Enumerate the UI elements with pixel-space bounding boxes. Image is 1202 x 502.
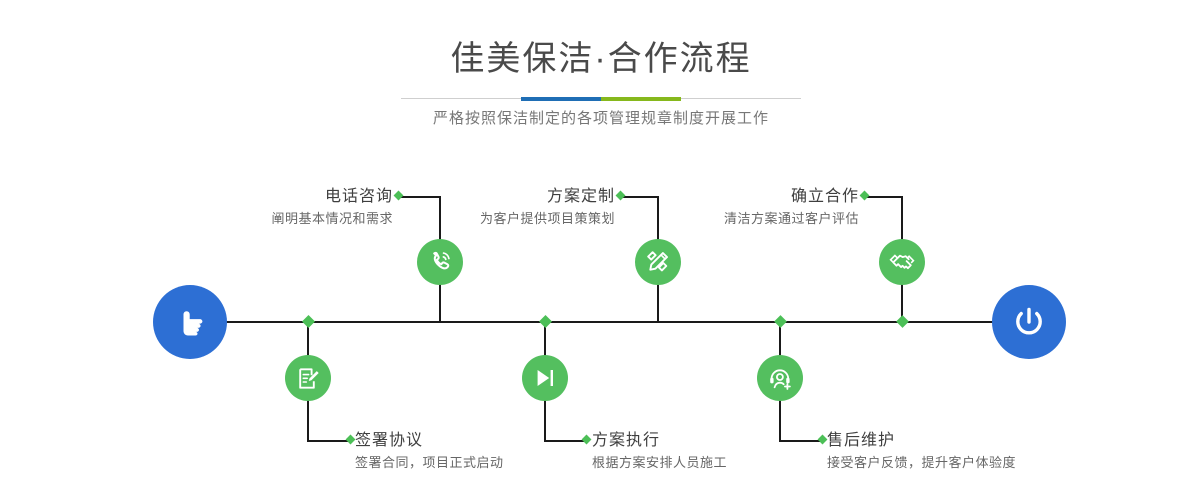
step-title-2: 签署协议	[355, 430, 615, 452]
handshake-icon	[888, 248, 916, 276]
step-icon-4	[522, 355, 568, 401]
timeline-start-node	[153, 285, 227, 359]
label-marker-step-2	[346, 435, 356, 445]
step-title-5: 确立合作	[620, 186, 859, 208]
axis-marker-step-6	[896, 315, 909, 328]
pointing-hand-icon	[170, 302, 210, 342]
step-title-3: 方案定制	[370, 186, 615, 208]
connector-horizontal-step-2	[307, 440, 350, 442]
step-label-2: 签署协议 签署合同，项目正式启动	[355, 430, 615, 474]
step-icon-2	[285, 355, 331, 401]
step-icon-6	[757, 355, 803, 401]
step-title-6: 售后维护	[827, 430, 1117, 452]
axis-marker-step-2	[302, 315, 315, 328]
phone-icon	[426, 248, 454, 276]
axis-marker-step-5	[774, 315, 787, 328]
step-label-3: 方案定制 为客户提供项目策策划	[370, 186, 615, 230]
step-label-4: 方案执行 根据方案安排人员施工	[592, 430, 842, 474]
step-label-5: 确立合作 清洁方案通过客户评估	[620, 186, 859, 230]
step-title-4: 方案执行	[592, 430, 842, 452]
power-icon	[1008, 301, 1050, 343]
step-icon-5	[879, 239, 925, 285]
step-icon-1	[417, 239, 463, 285]
label-marker-step-5	[860, 191, 870, 201]
timeline-end-node	[992, 285, 1066, 359]
step-icon-3	[635, 239, 681, 285]
axis-marker-step-4	[539, 315, 552, 328]
step-subtitle-2: 签署合同，项目正式启动	[355, 452, 615, 474]
step-title-1: 电话咨询	[150, 186, 393, 208]
step-label-1: 电话咨询 阐明基本情况和需求	[150, 186, 393, 230]
step-subtitle-6: 接受客户反馈，提升客户体验度	[827, 452, 1117, 474]
step-subtitle-3: 为客户提供项目策策划	[370, 208, 615, 230]
step-subtitle-5: 清洁方案通过客户评估	[620, 208, 859, 230]
step-subtitle-1: 阐明基本情况和需求	[150, 208, 393, 230]
document-pen-icon	[295, 365, 322, 392]
timeline: 电话咨询 阐明基本情况和需求 签署协议 签署合同，项目正式启动	[0, 0, 1202, 502]
headset-support-icon	[767, 365, 794, 392]
play-execute-icon	[532, 365, 558, 391]
step-label-6: 售后维护 接受客户反馈，提升客户体验度	[827, 430, 1117, 474]
step-subtitle-4: 根据方案安排人员施工	[592, 452, 842, 474]
pencil-ruler-icon	[644, 248, 672, 276]
connector-horizontal-step-5	[866, 196, 902, 198]
process-flow-infographic: 佳美保洁·合作流程 严格按照保洁制定的各项管理规章制度开展工作	[0, 0, 1202, 502]
